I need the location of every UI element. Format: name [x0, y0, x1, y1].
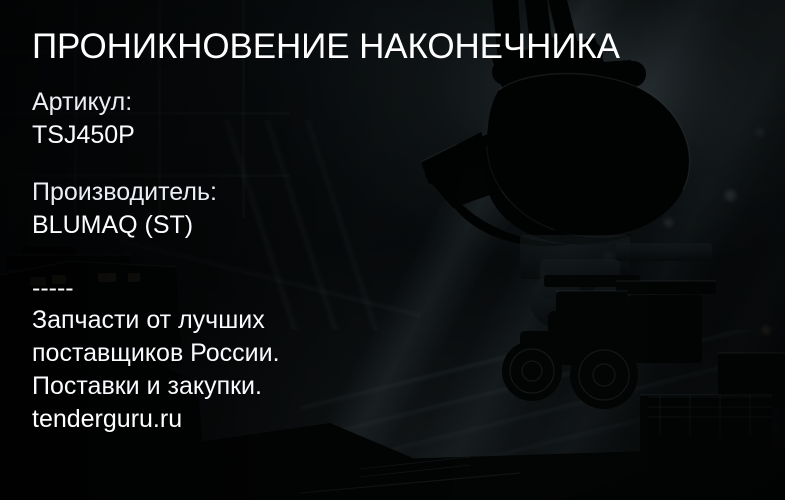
- banner-content: ПРОНИКНОВЕНИЕ НАКОНЕЧНИКА Артикул: TSJ45…: [32, 0, 652, 500]
- article-field: Артикул: TSJ450P: [32, 86, 135, 152]
- product-title: ПРОНИКНОВЕНИЕ НАКОНЕЧНИКА: [32, 27, 620, 67]
- bokeh-light-3: [664, 218, 673, 227]
- tagline-line-3: Поставки и закупки.: [32, 370, 280, 403]
- article-value: TSJ450P: [32, 119, 135, 152]
- tagline-line-2: поставщиков России.: [32, 337, 280, 370]
- tagline-block: Запчасти от лучших поставщиков России. П…: [32, 304, 280, 436]
- website-url: tenderguru.ru: [32, 403, 280, 436]
- tagline-line-1: Запчасти от лучших: [32, 304, 280, 337]
- bokeh-light-10: [762, 326, 770, 334]
- bokeh-light-2: [725, 190, 736, 201]
- bokeh-light-1: [668, 152, 681, 165]
- bokeh-light-7: [18, 393, 29, 404]
- separator-dashes: -----: [32, 272, 74, 305]
- manufacturer-label: Производитель:: [32, 176, 217, 209]
- bokeh-light-5: [756, 128, 764, 136]
- manufacturer-value: BLUMAQ (ST): [32, 209, 217, 242]
- manufacturer-field: Производитель: BLUMAQ (ST): [32, 176, 217, 242]
- article-label: Артикул:: [32, 86, 135, 119]
- product-banner: ПРОНИКНОВЕНИЕ НАКОНЕЧНИКА Артикул: TSJ45…: [0, 0, 785, 500]
